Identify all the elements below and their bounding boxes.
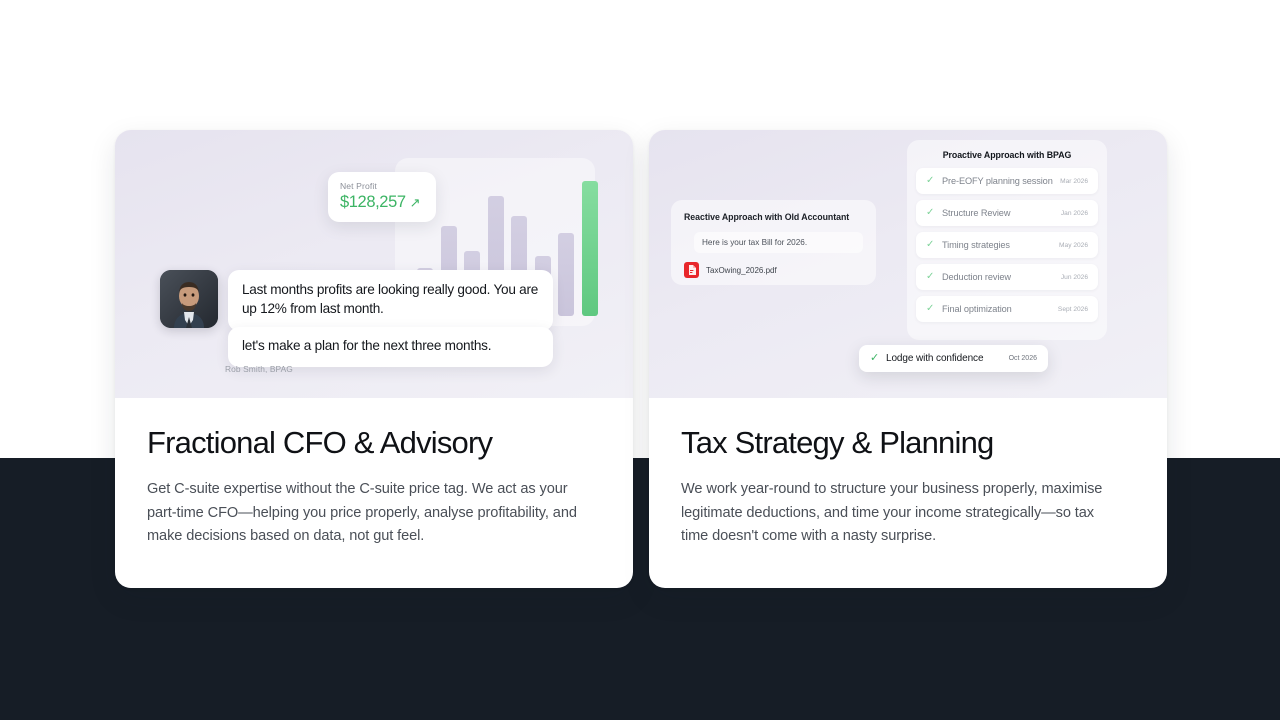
bar-8 <box>582 181 598 316</box>
card-body-cfo: Fractional CFO & Advisory Get C-suite ex… <box>115 398 633 549</box>
check-icon: ✓ <box>926 304 937 314</box>
reactive-approach-panel: Reactive Approach with Old Accountant He… <box>671 200 876 285</box>
proactive-approach-panel: Proactive Approach with BPAG ✓Pre-EOFY p… <box>907 140 1107 340</box>
task-label: Final optimization <box>942 304 1058 314</box>
task-label: Deduction review <box>942 272 1061 282</box>
page-root: Net Profit $128,257↗ <box>0 0 1280 720</box>
card-media-tax: Reactive Approach with Old Accountant He… <box>649 130 1167 398</box>
task-date: Mar 2026 <box>1060 178 1088 185</box>
pdf-filename: TaxOwing_2026.pdf <box>706 266 777 275</box>
bar-7 <box>558 233 574 316</box>
pdf-glyph <box>687 265 696 275</box>
card-title-cfo: Fractional CFO & Advisory <box>147 426 601 461</box>
reactive-panel-message: Here is your tax Bill for 2026. <box>694 232 863 253</box>
task-list: ✓Pre-EOFY planning sessionMar 2026✓Struc… <box>916 168 1098 322</box>
pdf-file-icon <box>684 262 699 278</box>
card-description-cfo: Get C-suite expertise without the C-suit… <box>147 478 589 549</box>
task-row[interactable]: ✓Pre-EOFY planning sessionMar 2026 <box>916 168 1098 194</box>
task-date: Jan 2026 <box>1061 210 1088 217</box>
chat-bubble-2: let's make a plan for the next three mon… <box>228 327 553 367</box>
service-card-tax-strategy[interactable]: Reactive Approach with Old Accountant He… <box>649 130 1167 588</box>
reactive-panel-title: Reactive Approach with Old Accountant <box>684 212 863 222</box>
highlight-task-date: Oct 2026 <box>1009 355 1037 362</box>
arrow-up-right-icon: ↗ <box>410 195 421 211</box>
task-label: Structure Review <box>942 208 1061 218</box>
task-row[interactable]: ✓Deduction reviewJun 2026 <box>916 264 1098 290</box>
check-icon: ✓ <box>870 353 881 364</box>
card-description-tax: We work year-round to structure your bus… <box>681 478 1123 549</box>
task-label: Timing strategies <box>942 240 1059 250</box>
card-body-tax: Tax Strategy & Planning We work year-rou… <box>649 398 1167 549</box>
chat-bubble-1: Last months profits are looking really g… <box>228 270 553 331</box>
check-icon: ✓ <box>926 208 937 218</box>
task-date: Sept 2026 <box>1058 306 1088 313</box>
task-date: May 2026 <box>1059 242 1088 249</box>
check-icon: ✓ <box>926 240 937 250</box>
net-profit-amount: $128,257 <box>340 193 406 211</box>
card-media-cfo: Net Profit $128,257↗ <box>115 130 633 398</box>
check-icon: ✓ <box>926 272 937 282</box>
task-row[interactable]: ✓Final optimizationSept 2026 <box>916 296 1098 322</box>
task-label: Pre-EOFY planning session <box>942 176 1060 186</box>
card-title-tax: Tax Strategy & Planning <box>681 426 1135 461</box>
highlight-task-label: Lodge with confidence <box>886 353 1009 364</box>
proactive-panel-title: Proactive Approach with BPAG <box>916 150 1098 160</box>
highlight-task-lodge[interactable]: ✓ Lodge with confidence Oct 2026 <box>859 345 1048 372</box>
net-profit-value: $128,257↗ <box>340 193 424 212</box>
task-row[interactable]: ✓Structure ReviewJan 2026 <box>916 200 1098 226</box>
task-row[interactable]: ✓Timing strategiesMay 2026 <box>916 232 1098 258</box>
net-profit-label: Net Profit <box>340 181 424 191</box>
task-date: Jun 2026 <box>1061 274 1088 281</box>
pdf-attachment-row[interactable]: TaxOwing_2026.pdf <box>684 262 863 278</box>
service-card-fractional-cfo[interactable]: Net Profit $128,257↗ <box>115 130 633 588</box>
chat-attribution: Rob Smith, BPAG <box>225 364 293 374</box>
check-icon: ✓ <box>926 176 937 186</box>
avatar-photo <box>160 270 218 328</box>
avatar <box>160 270 218 328</box>
net-profit-stat-card: Net Profit $128,257↗ <box>328 172 436 222</box>
